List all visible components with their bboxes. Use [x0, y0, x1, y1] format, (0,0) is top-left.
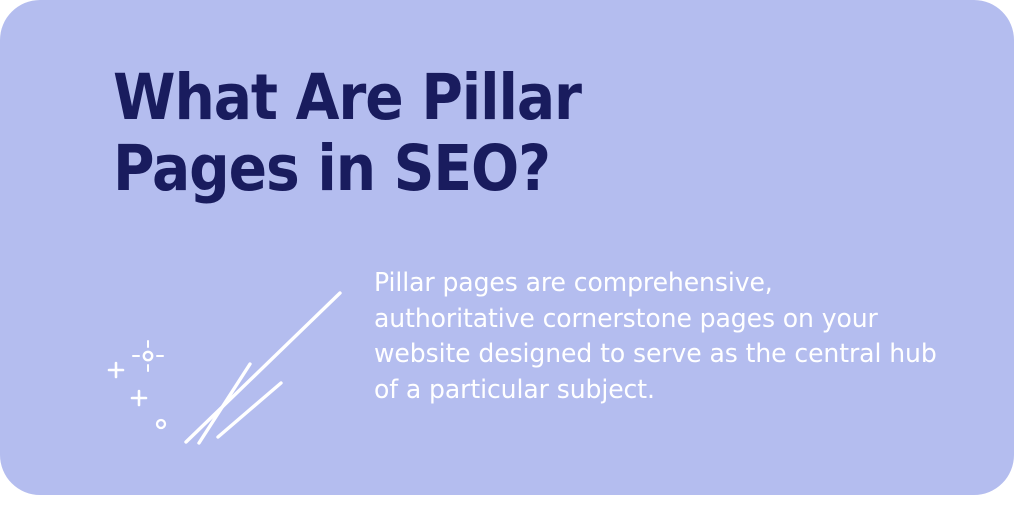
- plus-mark-upper-icon: [109, 363, 123, 377]
- shooting-line-short-icon: [218, 383, 281, 437]
- graphic-card: What Are Pillar Pages in SEO? Pillar pag…: [0, 0, 1014, 495]
- small-ring-icon: [157, 420, 165, 428]
- page-title: What Are Pillar Pages in SEO?: [113, 62, 671, 204]
- shooting-line-long-icon: [186, 293, 340, 442]
- decorative-cluster: [95, 275, 375, 470]
- decorative-svg: [95, 275, 375, 470]
- body-description: Pillar pages are comprehensive, authorit…: [374, 266, 939, 408]
- plus-mark-lower-icon: [132, 391, 146, 405]
- sparkle-burst-icon: [133, 341, 163, 371]
- shooting-line-medium-icon: [199, 364, 250, 443]
